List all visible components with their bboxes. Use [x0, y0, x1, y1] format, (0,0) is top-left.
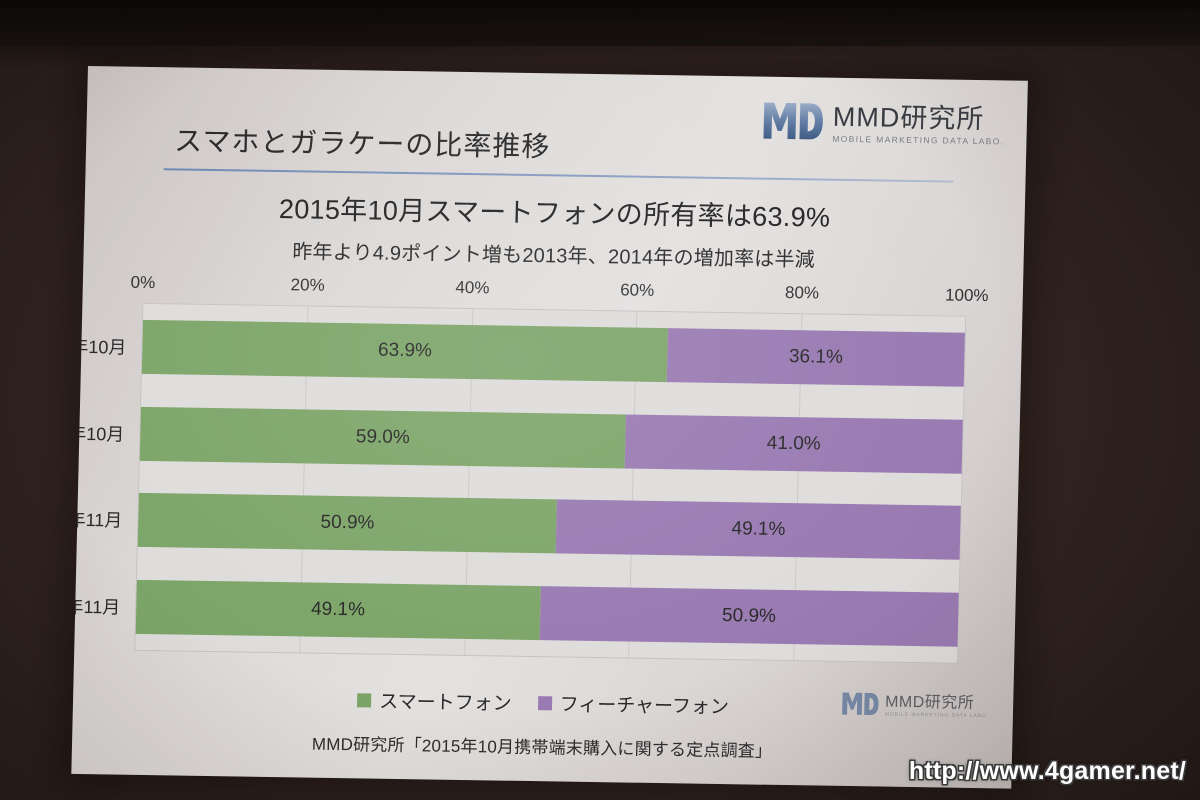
- category-label: 2012年11月: [71, 591, 136, 620]
- bar-segment: 50.9%: [138, 493, 558, 553]
- headline: 2015年10月スマートフォンの所有率は63.9%: [84, 184, 1025, 238]
- stacked-bar-chart: 0%20%40%60%80%100% 2015年10月63.9%36.1%201…: [134, 273, 967, 686]
- bar-value-label: 50.9%: [722, 605, 776, 628]
- slide-title: スマホとガラケーの比率推移: [174, 119, 551, 165]
- subheadline: 昨年より4.9ポイント増も2013年、2014年の増加率は半減: [83, 232, 1024, 276]
- legend-label: スマートフォン: [379, 687, 512, 716]
- bar-segment: 49.1%: [136, 580, 541, 640]
- bar-segment: 63.9%: [142, 320, 668, 382]
- plot-area: 2015年10月63.9%36.1%2014年10月59.0%41.0%2013…: [134, 303, 966, 664]
- x-axis-tick: 60%: [620, 280, 654, 301]
- bar-segment: 50.9%: [539, 586, 959, 646]
- site-watermark: http://www.4gamer.net/: [909, 757, 1186, 786]
- bar-segment: 36.1%: [667, 329, 965, 387]
- bar-row: 2015年10月63.9%36.1%: [142, 320, 965, 387]
- bar-value-label: 63.9%: [378, 340, 432, 363]
- mmd-logo-mark-icon: [761, 99, 824, 147]
- source-footnote: MMD研究所「2015年10月携帯端末購入に関する定点調査」: [72, 726, 1012, 766]
- bar-value-label: 50.9%: [320, 512, 374, 535]
- presentation-slide: スマホとガラケーの比率推移: [71, 66, 1028, 789]
- category-label: 2013年11月: [71, 504, 138, 533]
- mmd-logo-sub: MOBILE MARKETING DATA LABO.: [832, 134, 1004, 145]
- legend-swatch: [538, 696, 552, 710]
- bar-segment: 59.0%: [140, 407, 626, 468]
- mmd-logo-mark-small-icon: [841, 690, 880, 722]
- mmd-logo-text: MMD研究所 MOBILE MARKETING DATA LABO.: [832, 103, 1005, 145]
- legend-item: スマートフォン: [357, 686, 512, 715]
- mmd-logo-footer: MMD研究所 MOBILE MARKETING DATA LABO.: [841, 690, 990, 723]
- projection-screen: スマホとガラケーの比率推移: [71, 66, 1028, 789]
- bar-value-label: 36.1%: [789, 346, 843, 369]
- mmd-logo-main: MMD研究所: [832, 103, 1005, 133]
- x-axis-tick: 20%: [290, 275, 324, 296]
- bar-segment: 41.0%: [625, 414, 963, 473]
- x-axis-tick: 0%: [130, 273, 155, 293]
- bar-value-label: 49.1%: [731, 518, 785, 541]
- x-axis-tick: 40%: [455, 278, 489, 299]
- x-axis-tick: 100%: [945, 285, 989, 306]
- title-divider: [164, 168, 954, 182]
- bar-value-label: 49.1%: [311, 598, 365, 621]
- mmd-logo-footer-text: MMD研究所 MOBILE MARKETING DATA LABO.: [885, 695, 990, 720]
- mmd-logo-footer-main: MMD研究所: [885, 695, 990, 713]
- legend-label: フィーチャーフォン: [559, 689, 729, 719]
- category-label: 2015年10月: [71, 331, 142, 360]
- bar-value-label: 41.0%: [767, 432, 821, 455]
- bar-row: 2012年11月49.1%50.9%: [136, 580, 959, 647]
- category-label: 2014年10月: [71, 418, 140, 447]
- x-axis-tick: 80%: [785, 283, 819, 304]
- bar-value-label: 59.0%: [356, 426, 410, 449]
- legend-item: フィーチャーフォン: [537, 689, 729, 719]
- projector-photo: スマホとガラケーの比率推移: [0, 0, 1200, 800]
- bar-segment: 49.1%: [556, 500, 961, 560]
- mmd-logo-footer-sub: MOBILE MARKETING DATA LABO.: [885, 713, 989, 720]
- legend-swatch: [357, 693, 371, 707]
- mmd-logo-header: MMD研究所 MOBILE MARKETING DATA LABO.: [761, 99, 1005, 150]
- bar-row: 2013年11月50.9%49.1%: [138, 493, 961, 560]
- bar-row: 2014年10月59.0%41.0%: [140, 407, 963, 474]
